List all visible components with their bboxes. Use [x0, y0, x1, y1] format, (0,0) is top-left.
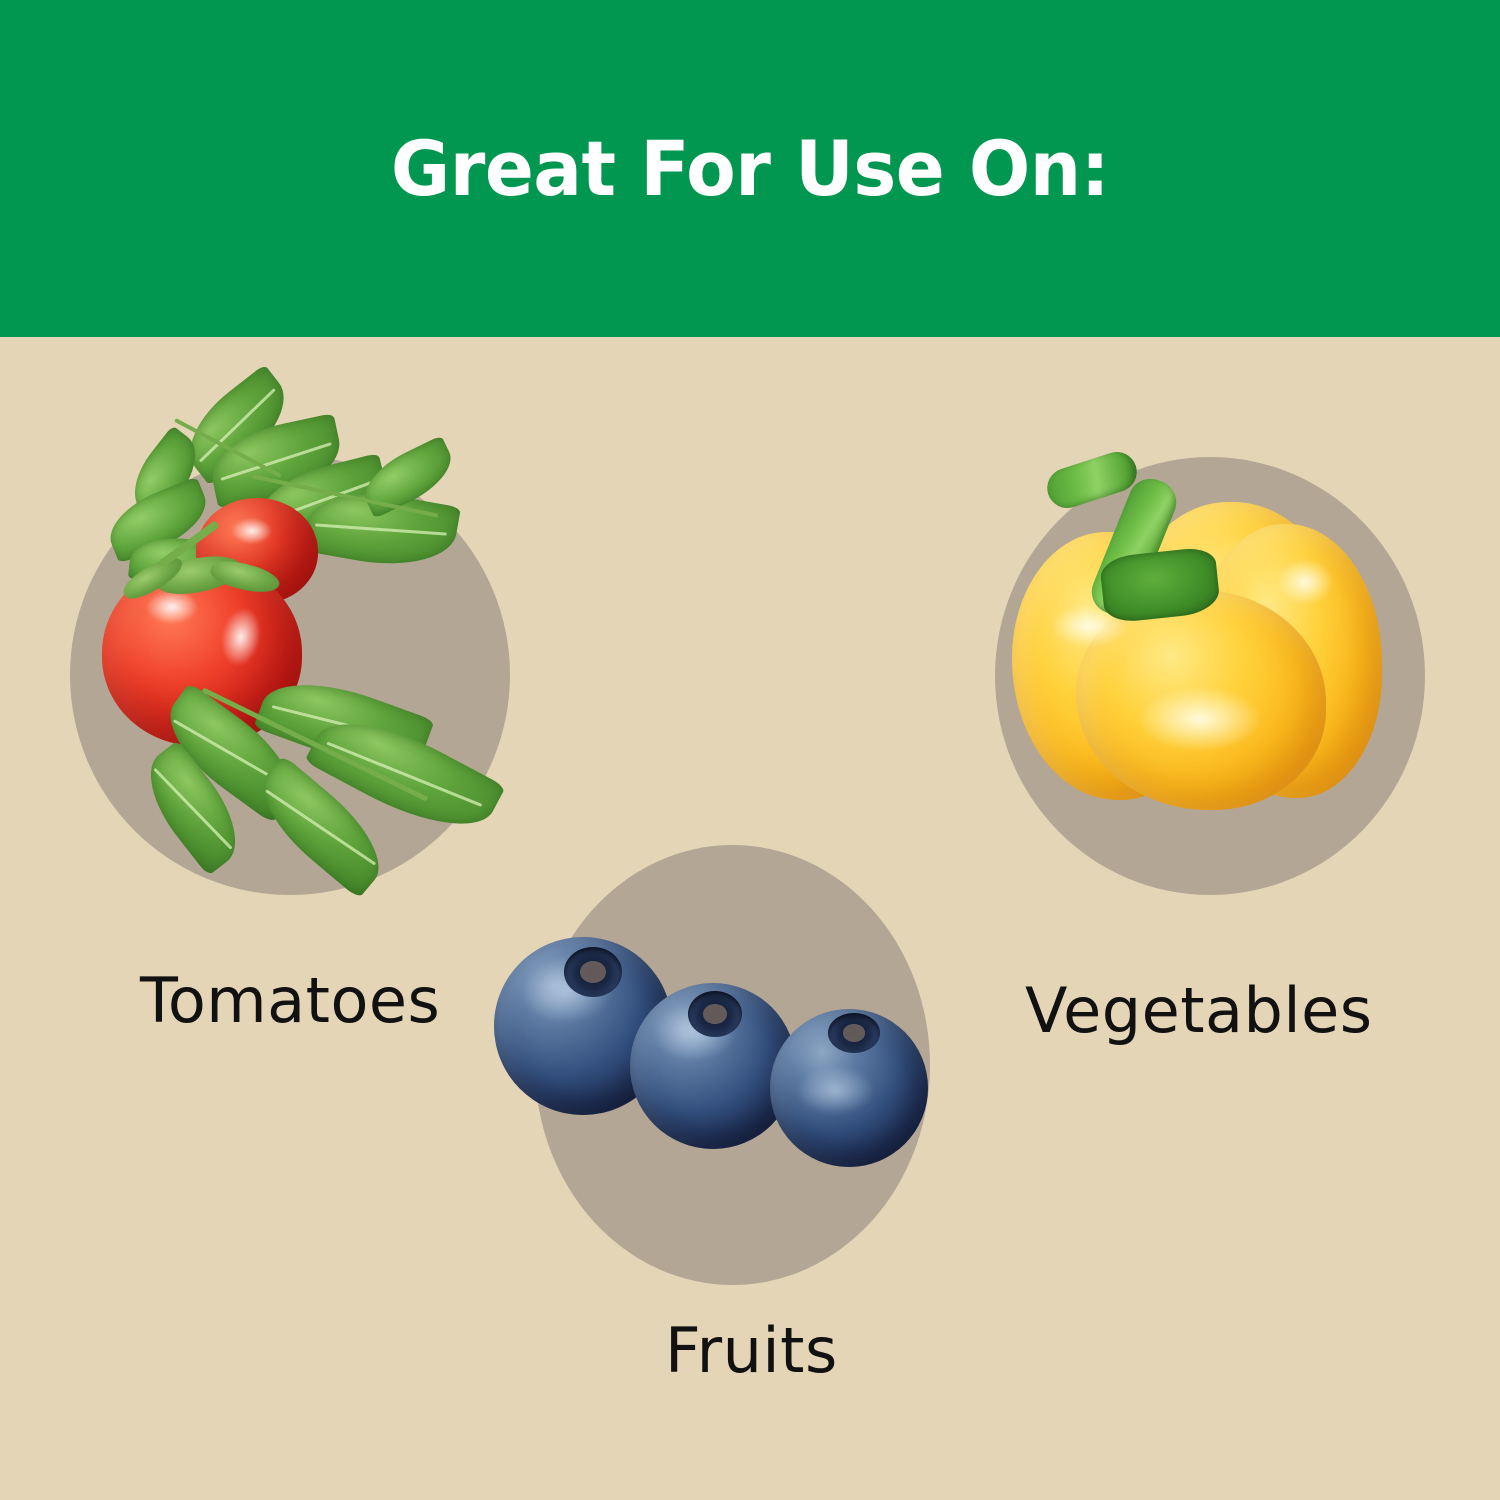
produce-item-vegetables: Vegetables [950, 400, 1500, 1080]
produce-label-fruits: Fruits [665, 1320, 838, 1382]
blueberries-image [480, 925, 1000, 1255]
tomato-plant-image [60, 390, 520, 950]
yellow-bell-pepper-image [1000, 440, 1420, 910]
produce-item-fruits: Fruits [480, 820, 1020, 1440]
page-title: Great For Use On: [391, 131, 1109, 207]
produce-label-tomatoes: Tomatoes [140, 970, 440, 1032]
promo-graphic: Great For Use On: [0, 0, 1500, 1500]
header-band: Great For Use On: [0, 0, 1500, 337]
produce-label-vegetables: Vegetables [1025, 980, 1373, 1042]
produce-item-tomatoes: Tomatoes [0, 390, 560, 1070]
